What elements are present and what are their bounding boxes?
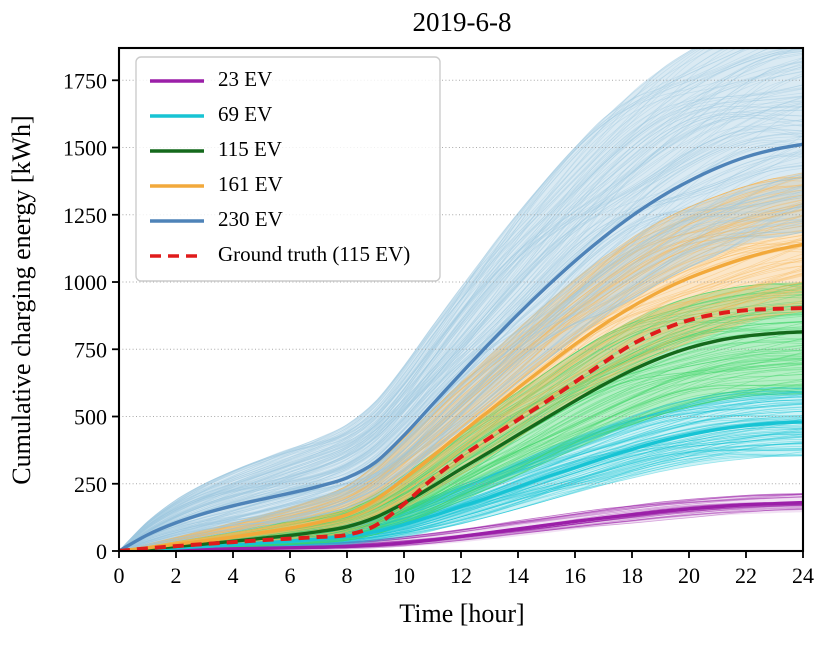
tick-label-x: 16 [564,563,586,588]
tick-label-x: 20 [678,563,700,588]
tick-label-y: 1750 [63,68,107,93]
tick-label-x: 10 [393,563,415,588]
legend-label: Ground truth (115 EV) [218,242,410,266]
chart-svg: 0246810121416182022240250500750100012501… [0,0,824,666]
tick-label-y: 500 [74,405,107,430]
tick-label-x: 2 [171,563,182,588]
legend-label: 69 EV [218,102,272,126]
chart-title: 2019-6-8 [413,7,512,37]
tick-label-y: 750 [74,337,107,362]
tick-label-y: 250 [74,472,107,497]
tick-label-x: 6 [285,563,296,588]
tick-label-y: 1500 [63,136,107,161]
tick-label-y: 1000 [63,270,107,295]
tick-label-x: 0 [114,563,125,588]
tick-label-x: 24 [792,563,814,588]
tick-label-y: 0 [96,539,107,564]
tick-label-x: 8 [342,563,353,588]
legend-label: 115 EV [218,137,282,161]
tick-label-x: 12 [450,563,472,588]
tick-label-x: 18 [621,563,643,588]
tick-label-x: 4 [228,563,239,588]
chart-figure: 0246810121416182022240250500750100012501… [0,0,824,666]
tick-label-y: 1250 [63,203,107,228]
legend-label: 230 EV [218,207,283,231]
tick-label-x: 22 [735,563,757,588]
legend-label: 23 EV [218,67,272,91]
legend-label: 161 EV [218,172,283,196]
chart-legend[interactable]: 23 EV69 EV115 EV161 EV230 EVGround truth… [136,57,440,281]
x-axis-label: Time [hour] [399,599,524,628]
y-axis-label: Cumulative charging energy [kWh] [7,115,36,484]
tick-label-x: 14 [507,563,529,588]
